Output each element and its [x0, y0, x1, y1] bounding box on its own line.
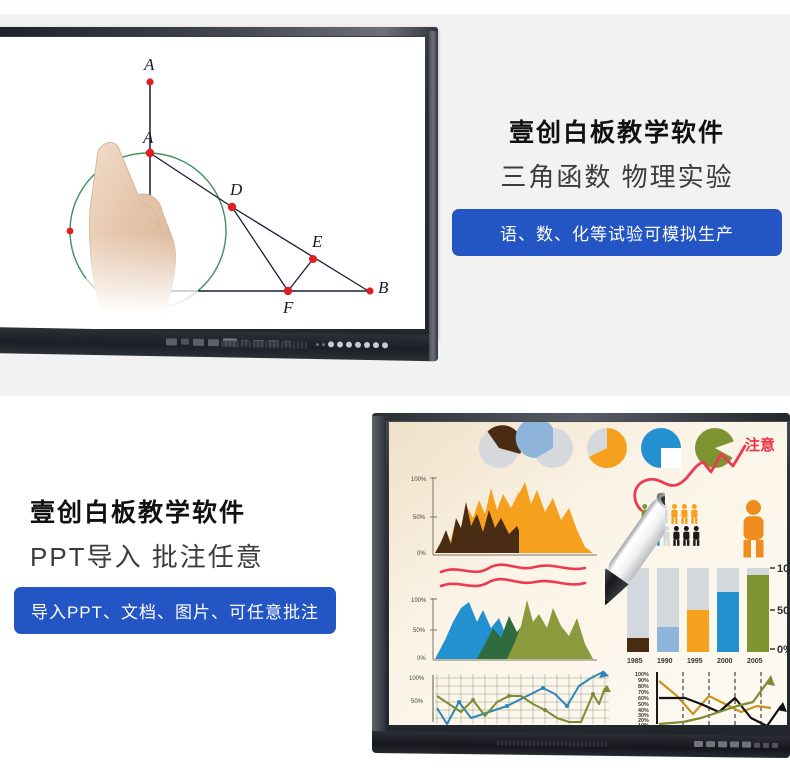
- display-chin: [372, 731, 790, 758]
- bottom-title: 壹创白板教学软件: [14, 498, 344, 528]
- whiteboard-dot-2: [337, 341, 343, 347]
- display-button-5[interactable]: [742, 742, 751, 748]
- label-b: B: [378, 278, 389, 297]
- display-button-2[interactable]: [706, 741, 715, 747]
- whiteboard-dot-4: [355, 342, 361, 348]
- whiteboard-dot-tiny-2: [322, 343, 325, 346]
- label-a-top: A: [143, 55, 155, 74]
- whiteboard-dot-tiny-1: [316, 343, 319, 346]
- top-subtitle: 三角函数 物理实验: [452, 162, 782, 193]
- display-left-edge: [372, 416, 386, 746]
- point-d: [228, 203, 236, 211]
- geometry-circle: [70, 153, 226, 309]
- geometry-diagram: A A D E B F C: [0, 37, 425, 329]
- label-e: E: [311, 232, 323, 251]
- point-e: [309, 255, 317, 263]
- display-speaker-grill: [497, 741, 607, 747]
- display-button-8[interactable]: [772, 742, 778, 747]
- page-root: A A D E B F C: [0, 0, 790, 774]
- bar-axis-50: 50%: [777, 605, 787, 617]
- bar-year-2000: 2000: [717, 658, 733, 665]
- bar-axis-100: 100%: [777, 563, 787, 575]
- display-button-7[interactable]: [763, 742, 769, 747]
- bottom-text-block: 壹创白板教学软件 PPT导入 批注任意 导入PPT、文档、图片、可任意批注: [14, 498, 344, 634]
- point-circle-left: [67, 228, 74, 235]
- decile-axis-10: 10%: [638, 723, 649, 725]
- whiteboard-speaker-grill: [221, 340, 307, 349]
- whiteboard-screen[interactable]: A A D E B F C: [0, 37, 425, 329]
- interactive-display: 100% 50% 0%: [372, 413, 790, 761]
- line-d-f: [232, 207, 288, 291]
- whiteboard-button-3[interactable]: [193, 338, 204, 345]
- top-title: 壹创白板教学软件: [452, 118, 782, 148]
- point-a-top: [146, 78, 153, 85]
- top-text-block: 壹创白板教学软件 三角函数 物理实验 语、数、化等试验可模拟生产: [452, 118, 782, 256]
- display-button-6[interactable]: [754, 742, 760, 747]
- whiteboard-dot-1: [328, 341, 334, 347]
- axis-label-upper-100: 100%: [411, 477, 427, 483]
- whiteboard-indicator-dots: [316, 341, 388, 348]
- whiteboard-dot-7: [382, 342, 388, 348]
- line-f-e: [288, 259, 313, 291]
- top-promo-panel: A A D E B F C: [0, 0, 790, 400]
- axis-label-lower-100: 100%: [411, 598, 427, 604]
- axis-label-upper-0: 0%: [417, 551, 426, 557]
- display-screen[interactable]: 100% 50% 0%: [389, 422, 787, 725]
- grid-axis-50: 50%: [411, 699, 424, 705]
- whiteboard-button-2[interactable]: [181, 339, 189, 345]
- whiteboard-button-4[interactable]: [208, 339, 219, 346]
- axis-label-upper-50: 50%: [413, 515, 426, 521]
- annotation-zhuyi-text: 注意: [745, 436, 775, 454]
- bottom-subtitle: PPT导入 批注任意: [14, 542, 344, 573]
- bar-year-1990: 1990: [657, 658, 673, 665]
- whiteboard-right-edge: [429, 31, 438, 361]
- axis-label-lower-0: 0%: [417, 656, 426, 662]
- whiteboard-bezel: A A D E B F C: [0, 27, 438, 339]
- line-a-d: [150, 153, 232, 207]
- whiteboard-button-1[interactable]: [166, 338, 177, 345]
- bottom-promo-panel: 壹创白板教学软件 PPT导入 批注任意 导入PPT、文档、图片、可任意批注: [0, 400, 790, 774]
- line-d-b: [232, 207, 370, 292]
- point-a-circle: [146, 149, 154, 157]
- axis-label-lower-50: 50%: [413, 628, 426, 634]
- whiteboard-dot-5: [364, 342, 370, 348]
- whiteboard-dot-6: [373, 342, 379, 348]
- display-button-3[interactable]: [718, 741, 727, 747]
- whiteboard-top-sheen: [0, 27, 438, 36]
- bar-axis-0: 0%: [777, 644, 787, 656]
- top-feature-badge[interactable]: 语、数、化等试验可模拟生产: [452, 209, 782, 256]
- whiteboard-chin: [0, 327, 438, 361]
- top-white-strip: [0, 0, 790, 14]
- bar-year-1985: 1985: [627, 658, 643, 665]
- grid-axis-100: 100%: [409, 676, 425, 682]
- point-b: [366, 287, 373, 294]
- bar-year-1995: 1995: [687, 658, 703, 665]
- display-control-buttons[interactable]: [694, 741, 778, 748]
- dashboard-graphics: 100% 50% 0%: [389, 422, 787, 725]
- display-top-sheen: [372, 413, 790, 421]
- display-button-4[interactable]: [730, 741, 739, 747]
- display-bezel: 100% 50% 0%: [372, 413, 790, 749]
- interactive-whiteboard: A A D E B F C: [0, 27, 438, 373]
- point-f: [284, 287, 292, 295]
- label-a-circle: A: [142, 128, 154, 147]
- display-button-1[interactable]: [694, 741, 703, 747]
- bottom-feature-badge[interactable]: 导入PPT、文档、图片、可任意批注: [14, 587, 336, 634]
- bar-year-2005: 2005: [747, 658, 763, 665]
- label-f: F: [282, 298, 294, 317]
- whiteboard-dot-3: [346, 342, 352, 348]
- label-d: D: [229, 180, 243, 199]
- label-c: C: [136, 298, 148, 317]
